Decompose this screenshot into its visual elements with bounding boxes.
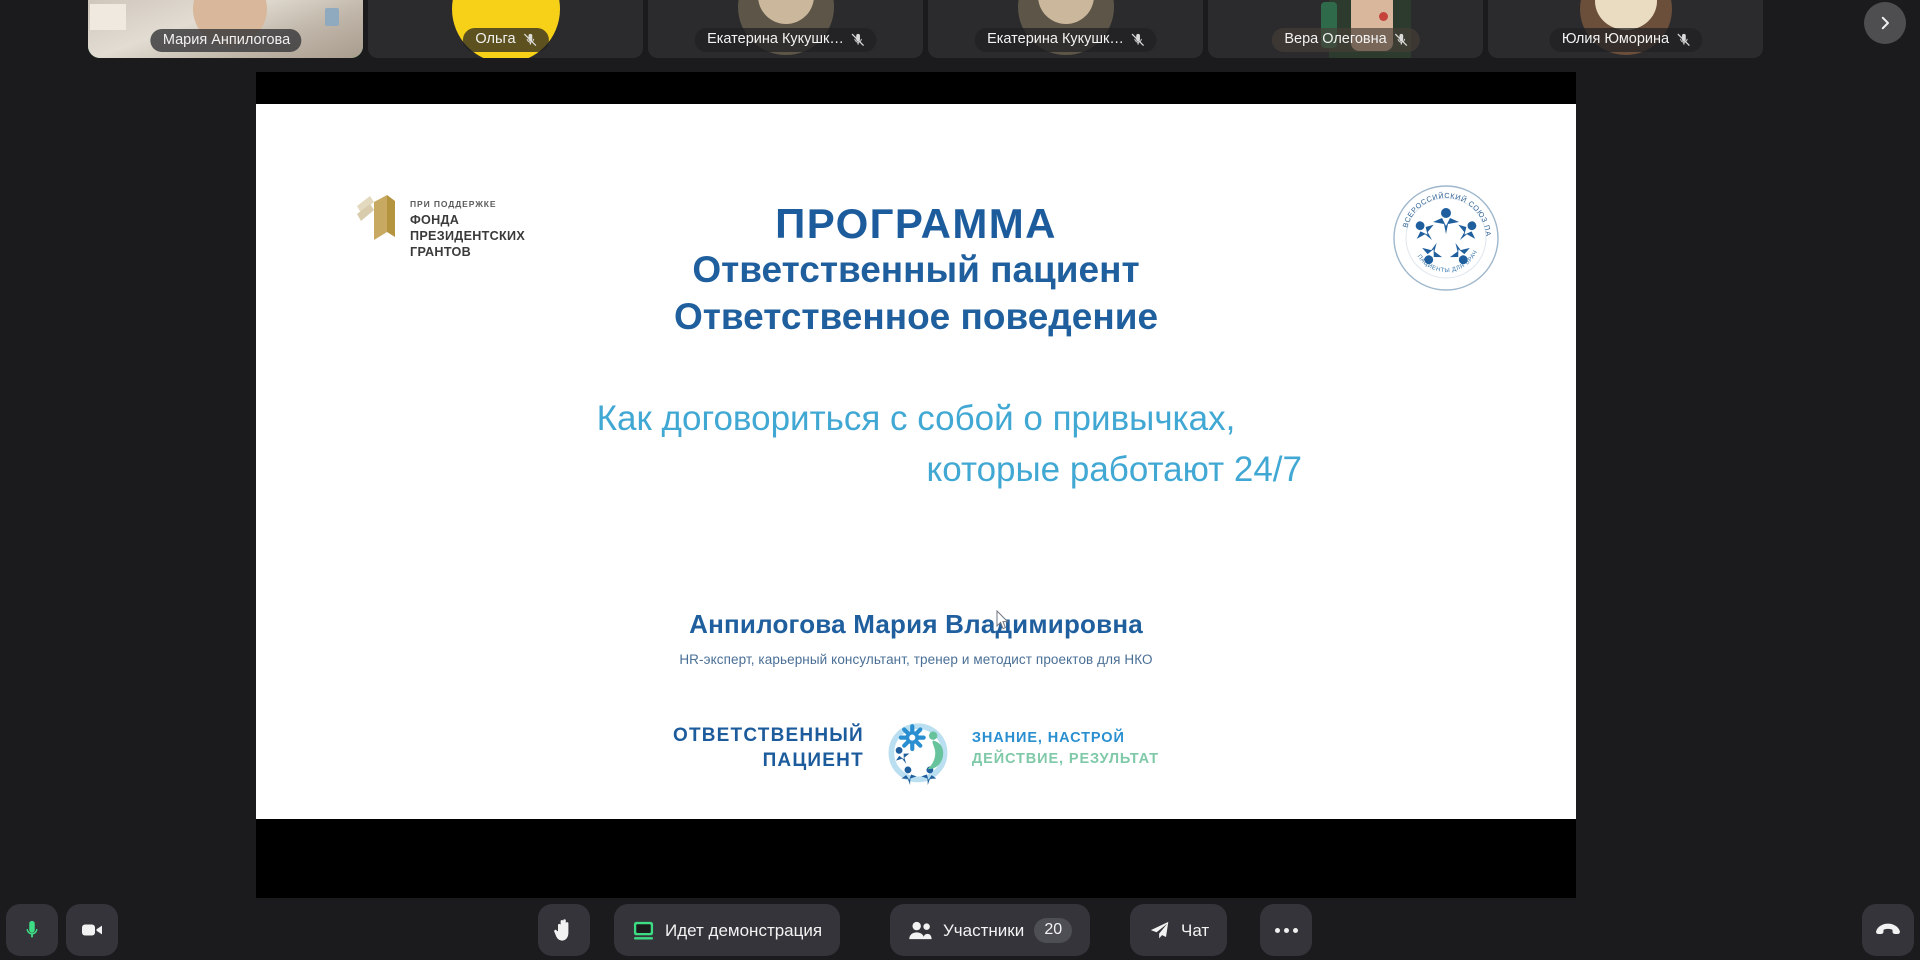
lockup-tagline-line-1: ЗНАНИЕ, НАСТРОЙ xyxy=(972,728,1159,749)
chevron-right-icon xyxy=(1876,14,1894,32)
mouse-pointer-icon xyxy=(996,610,1009,630)
chat-button[interactable]: Чат xyxy=(1130,904,1227,956)
participant-tile[interactable]: Екатерина Кукушк… xyxy=(648,0,923,58)
slide-subtitle-line-2: которые работают 24/7 xyxy=(496,445,1336,496)
participant-name-chip: Мария Анпилогова xyxy=(150,29,301,53)
microphone-off-icon xyxy=(1676,32,1691,47)
participant-name: Екатерина Кукушк… xyxy=(707,32,844,47)
lockup-tagline-line-2: ДЕЙСТВИЕ, РЕЗУЛЬТАТ xyxy=(972,749,1159,770)
lockup-name-line-2: ПАЦИЕНТ xyxy=(673,749,864,774)
participant-name: Юлия Юморина xyxy=(1562,32,1669,47)
raised-hand-icon xyxy=(552,918,576,943)
lockup-name-line-1: ОТВЕТСТВЕННЫЙ xyxy=(673,724,864,749)
camera-button[interactable] xyxy=(66,904,118,956)
participant-name-chip: Ольга xyxy=(462,28,548,52)
filmstrip-next-button[interactable] xyxy=(1864,2,1906,44)
microphone-icon xyxy=(21,919,43,941)
paper-plane-icon xyxy=(1148,919,1171,941)
participant-tile[interactable]: Ольга xyxy=(368,0,643,58)
slide-title-line-2: Ответственное поведение xyxy=(256,294,1576,341)
people-icon xyxy=(908,920,933,941)
participant-filmstrip[interactable]: Мария Анпилогова Ольга xyxy=(0,0,1920,58)
microphone-off-icon xyxy=(1394,32,1409,47)
patients-globe-icon xyxy=(880,711,956,787)
slide-subtitle-line-1: Как договориться с собой о привычках, xyxy=(496,394,1336,445)
ellipsis-icon xyxy=(1275,928,1298,933)
screen-share-status-button[interactable]: Идет демонстрация xyxy=(614,904,840,956)
participant-name-chip: Вера Олеговна xyxy=(1271,28,1419,52)
video-camera-icon xyxy=(80,918,104,942)
leave-meeting-button[interactable] xyxy=(1862,904,1914,956)
microphone-off-icon xyxy=(523,32,538,47)
shared-screen-stage: ПРИ ПОДДЕРЖКЕ ФОНДА ПРЕЗИДЕНТСКИХ ГРАНТО… xyxy=(0,58,1920,898)
microphone-off-icon xyxy=(1131,32,1146,47)
participant-tile[interactable]: Мария Анпилогова xyxy=(88,0,363,58)
raise-hand-button[interactable] xyxy=(538,904,590,956)
participant-tile[interactable]: Юлия Юморина xyxy=(1488,0,1763,58)
participant-name: Вера Олеговна xyxy=(1284,32,1386,47)
participant-name: Екатерина Кукушк… xyxy=(987,32,1124,47)
participants-button[interactable]: Участники 20 xyxy=(890,904,1090,956)
participant-name-chip: Екатерина Кукушк… xyxy=(694,28,877,52)
meeting-toolbar[interactable]: Идет демонстрация Участники 20 Чат xyxy=(0,898,1920,960)
participants-count: 20 xyxy=(1034,918,1072,943)
responsible-patient-lockup: ОТВЕТСТВЕННЫЙ ПАЦИЕНТ xyxy=(673,711,1159,787)
participant-tile[interactable]: Вера Олеговна xyxy=(1208,0,1483,58)
slide-subtitle-block: Как договориться с собой о привычках, ко… xyxy=(256,394,1576,496)
participant-name-chip: Юлия Юморина xyxy=(1549,28,1702,52)
presentation-slide[interactable]: ПРИ ПОДДЕРЖКЕ ФОНДА ПРЕЗИДЕНТСКИХ ГРАНТО… xyxy=(256,104,1576,819)
slide-title-line-1: Ответственный пациент xyxy=(256,247,1576,294)
microphone-button[interactable] xyxy=(6,904,58,956)
screen-share-icon xyxy=(632,920,655,941)
participants-label: Участники xyxy=(943,922,1024,939)
chat-label: Чат xyxy=(1181,922,1209,939)
more-options-button[interactable] xyxy=(1260,904,1312,956)
participant-name: Ольга xyxy=(475,32,515,47)
participant-tile[interactable]: Екатерина Кукушк… xyxy=(928,0,1203,58)
meeting-window: Мария Анпилогова Ольга xyxy=(0,0,1920,960)
slide-heading-block: ПРОГРАММА Ответственный пациент Ответств… xyxy=(256,200,1576,340)
slide-speaker-name: Анпилогова Мария Владимировна xyxy=(256,609,1576,640)
microphone-off-icon xyxy=(851,32,866,47)
hang-up-icon xyxy=(1874,919,1902,941)
participant-name: Мария Анпилогова xyxy=(163,33,290,48)
slide-speaker-role: HR-эксперт, карьерный консультант, трене… xyxy=(256,652,1576,667)
slide-title-kicker: ПРОГРАММА xyxy=(256,200,1576,247)
participant-name-chip: Екатерина Кукушк… xyxy=(974,28,1157,52)
screen-share-label: Идет демонстрация xyxy=(665,922,822,939)
